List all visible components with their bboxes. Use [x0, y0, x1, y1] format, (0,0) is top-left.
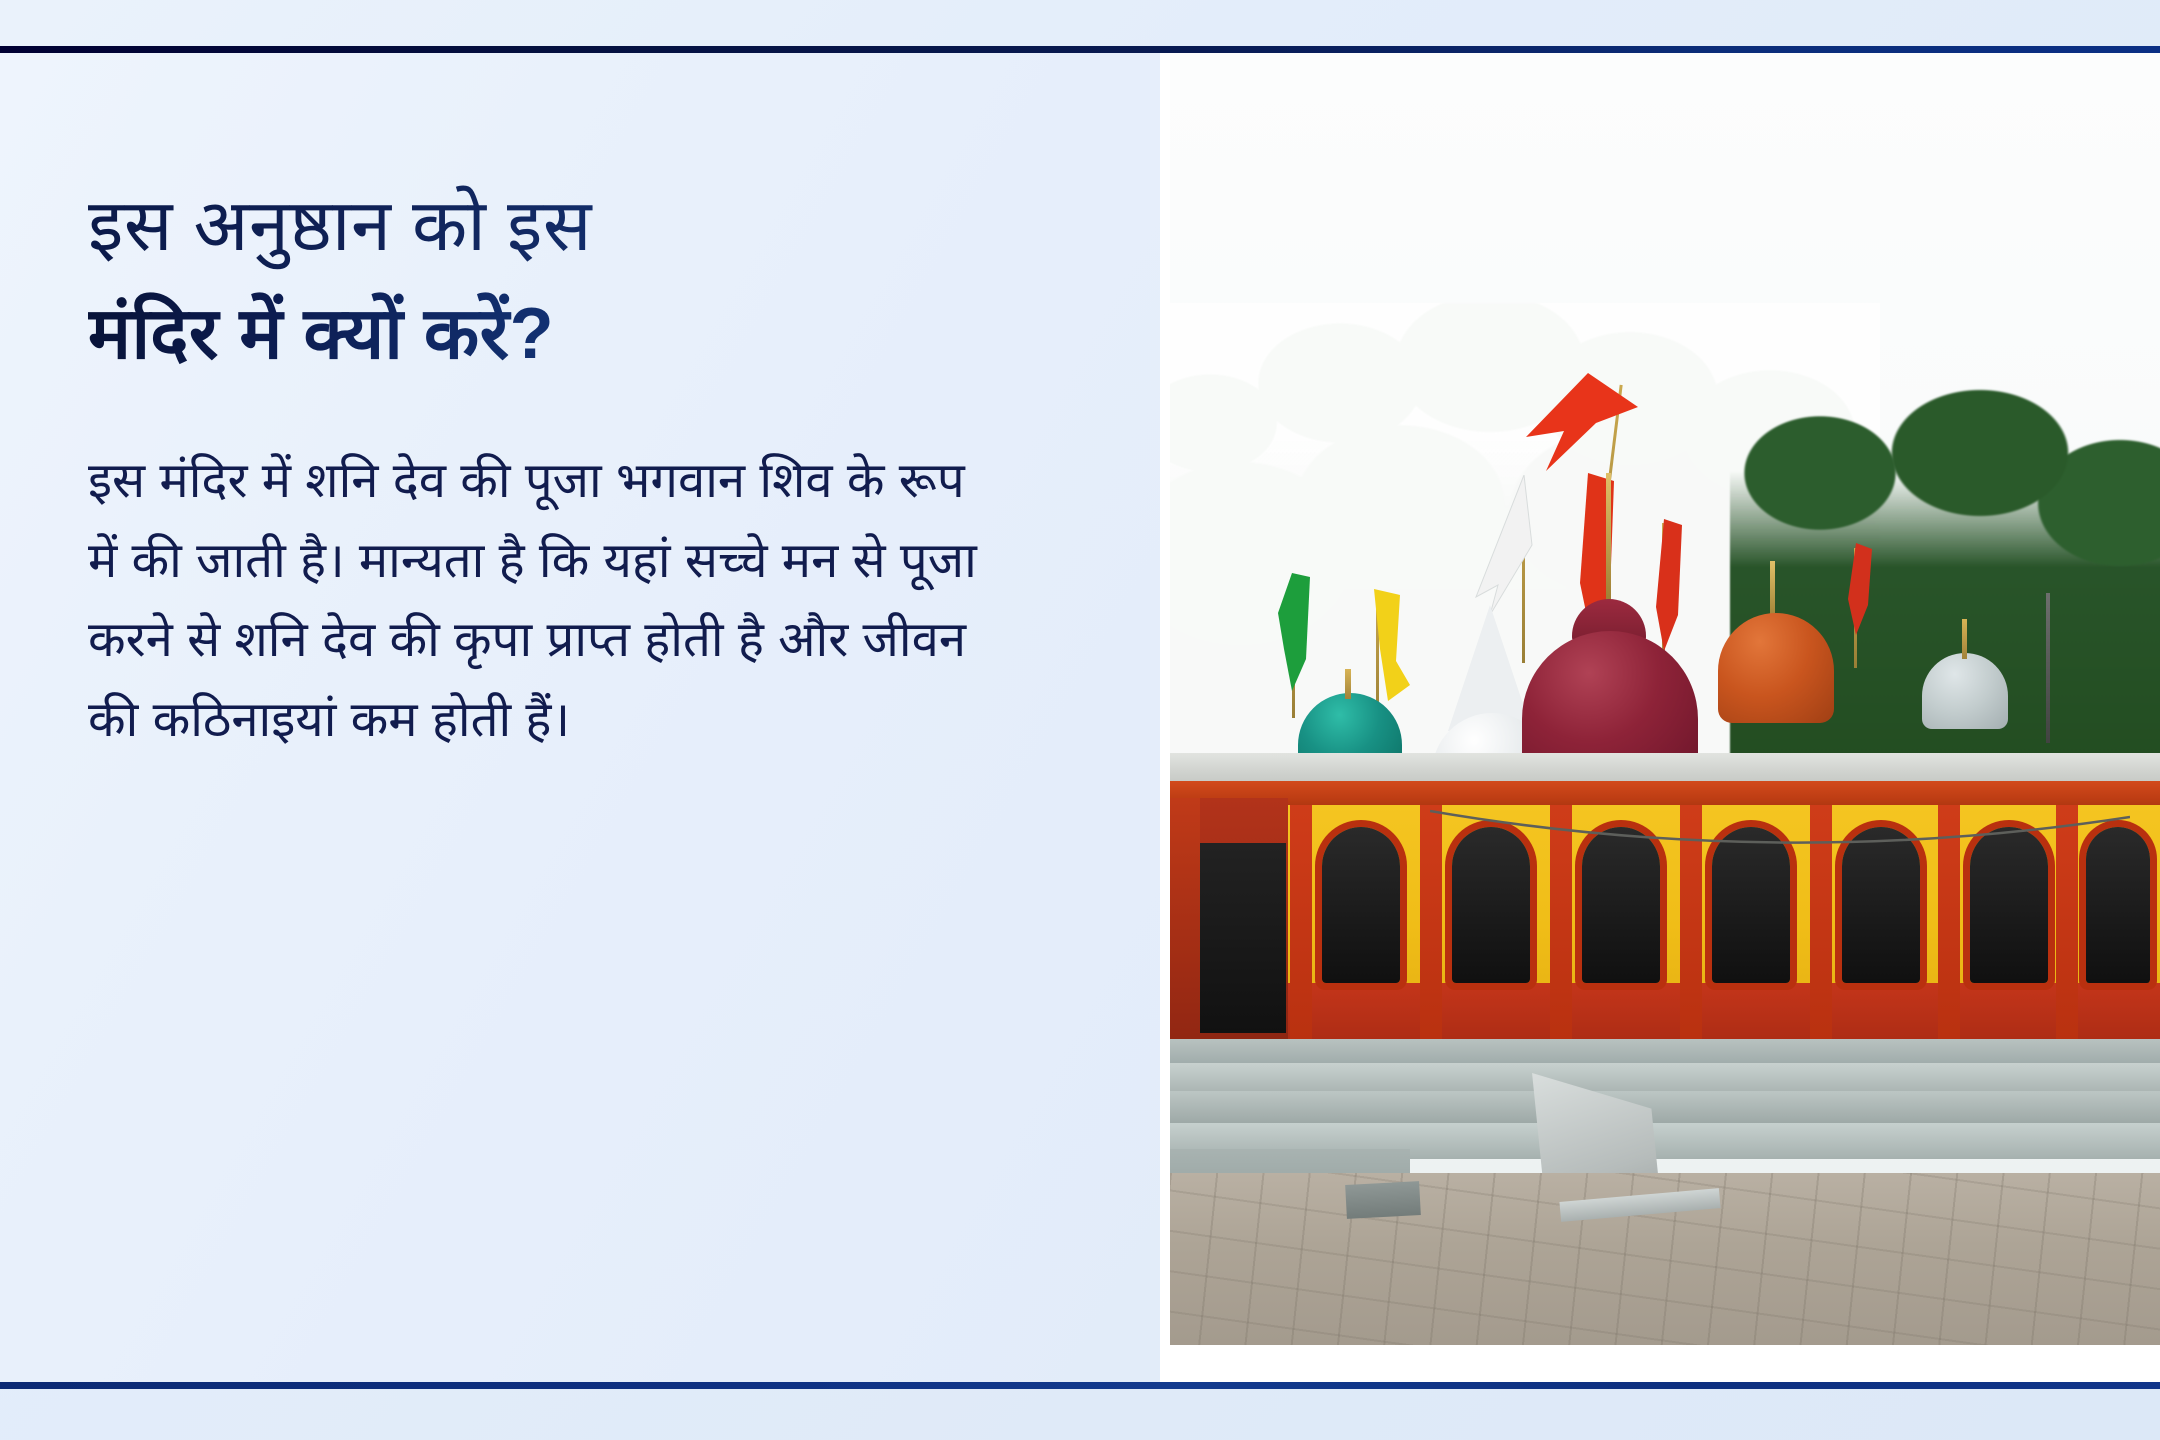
temple-pillar [1290, 805, 1312, 1041]
temple-step [1170, 1091, 2160, 1125]
top-divider-rule [0, 46, 2160, 53]
antenna-mast [2046, 593, 2050, 743]
temple-red-base-band [1170, 983, 2160, 1039]
temple-doorway [1196, 843, 1286, 1033]
debris-block [1345, 1181, 1421, 1219]
left-text-panel: इस अनुष्ठान को इस मंदिर में क्यों करें? … [0, 53, 1160, 1382]
white-flag-icon [1468, 475, 1546, 625]
temple-photograph [1170, 53, 2160, 1345]
hanging-wire [1430, 807, 2130, 877]
far-right-red-flag-icon [1834, 543, 1878, 653]
temple-step [1170, 1063, 2160, 1093]
orange-dome [1718, 613, 1834, 723]
orange-dome-finial [1770, 561, 1775, 621]
heading-line-1: इस अनुष्ठान को इस [88, 175, 1090, 277]
teal-dome-finial [1345, 669, 1351, 699]
saffron-flag-top-icon [1520, 371, 1650, 481]
temple-arch [1322, 827, 1400, 983]
temple-step [1170, 1039, 2160, 1065]
green-flag-icon [1266, 573, 1314, 703]
temple-left-red-pier [1170, 798, 1200, 1058]
small-dome-right-finial [1962, 619, 1967, 659]
page-heading: इस अनुष्ठान को इस मंदिर में क्यों करें? [88, 175, 1090, 385]
maroon-dome-finial [1606, 473, 1611, 603]
small-dome-right [1922, 653, 2008, 729]
body-paragraph: इस मंदिर में शनि देव की पूजा भगवान शिव क… [88, 441, 993, 759]
temple-photo-frame [1160, 53, 2160, 1382]
bottom-divider-rule [0, 1382, 2160, 1389]
heading-line-2: मंदिर में क्यों करें? [88, 283, 1090, 385]
